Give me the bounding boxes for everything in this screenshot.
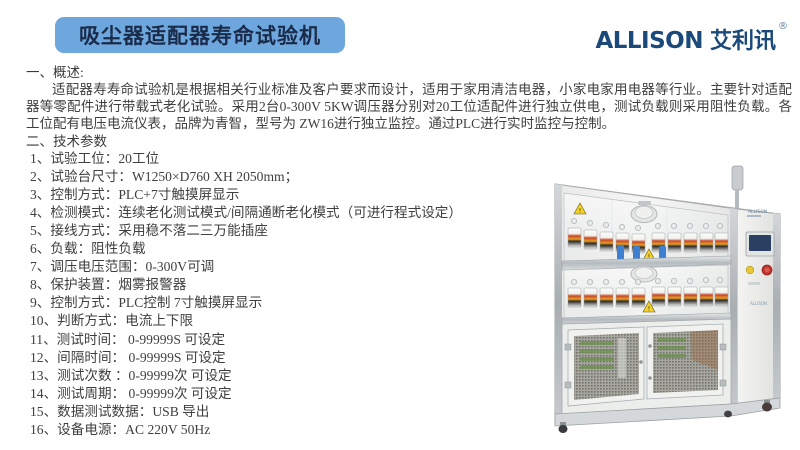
title-banner: 吸尘器适配器寿命试验机	[55, 17, 345, 53]
specs-heading: 二、技术参数	[0, 133, 800, 150]
lower-test-chamber: !	[564, 265, 728, 320]
voltage-regulator-dial[interactable]	[631, 266, 657, 282]
registered-trademark-icon: ®	[778, 21, 788, 32]
page-title: 吸尘器适配器寿命试验机	[79, 20, 321, 50]
svg-text:!: !	[648, 306, 650, 313]
svg-text:!: !	[579, 208, 581, 215]
page-header: 吸尘器适配器寿命试验机 ALLISON 艾利讯 ®	[0, 0, 800, 68]
lower-cabinet	[562, 319, 731, 414]
mesh-door-right[interactable]	[647, 324, 726, 399]
indicator-button[interactable]	[746, 266, 754, 274]
svg-text:ALLISON: ALLISON	[750, 301, 767, 306]
brand-name-chinese: 艾利讯	[710, 30, 776, 52]
machine-photo: !	[492, 160, 798, 448]
tower-lamp-icon	[732, 166, 743, 212]
test-machine-illustration: !	[492, 160, 798, 448]
brand-logo: ALLISON 艾利讯 ®	[595, 30, 788, 53]
overview-heading: 一、概述:	[0, 64, 800, 81]
panel-logo-text: ALLISON	[748, 209, 767, 215]
caster-wheel	[724, 411, 732, 418]
mesh-door-left[interactable]	[565, 327, 644, 406]
brand-name-english: ALLISON	[595, 30, 703, 53]
hmi-touchscreen[interactable]	[746, 232, 774, 256]
emergency-stop-button[interactable]	[762, 265, 772, 275]
overview-paragraph: 适配器寿寿命试验机是根据相关行业标准及客户要求而设计，适用于家用清洁电器，小家电…	[0, 81, 800, 133]
